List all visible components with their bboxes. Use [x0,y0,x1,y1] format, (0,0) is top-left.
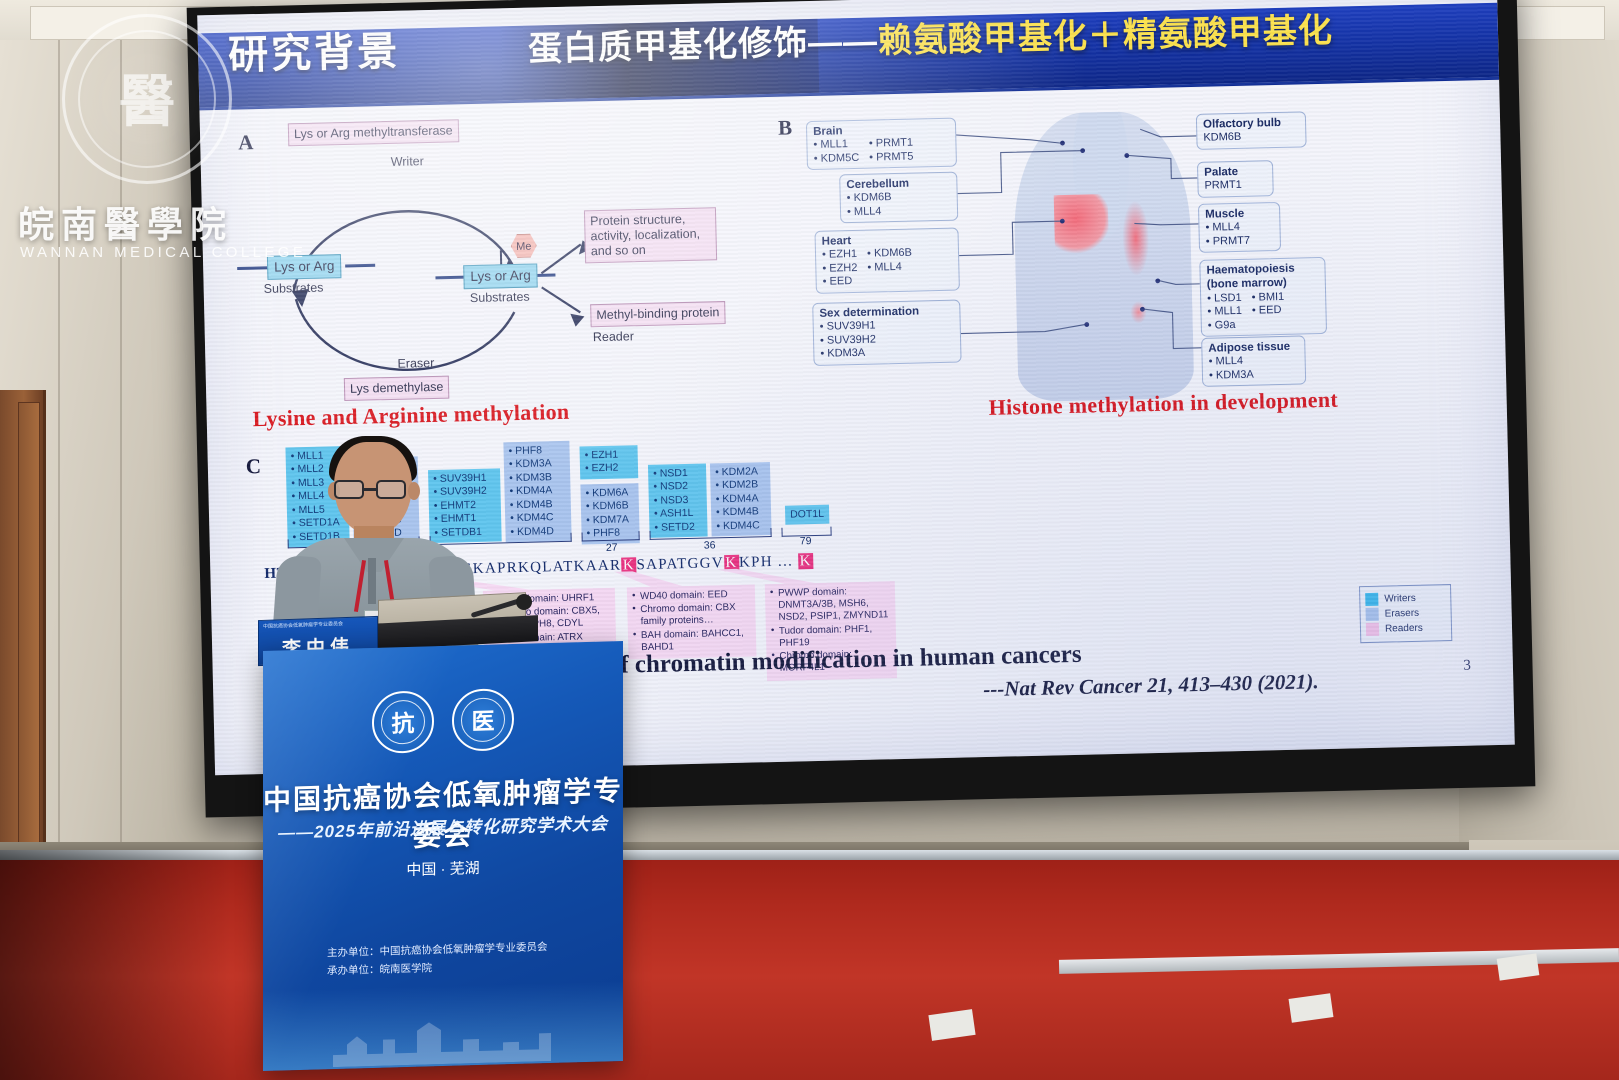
podium-seal-glyph-2: 医 [472,702,495,737]
panel-b-box-cerebellum: Cerebellum • KDM6B • MLL4 [839,172,958,224]
podium-banner: 抗 医 中国抗癌协会低氧肿瘤学专委会 ——2025年前沿进展与转化研究学术大会 … [263,641,623,1071]
seq-k79: K [798,553,814,569]
panel-a-output-methyl-binding: Methyl-binding protein [590,301,726,327]
panel-b: B [760,93,1487,410]
panel-a-eraser-label: Eraser [397,356,434,371]
legend-label-writers: Writers [1384,593,1416,605]
stage-front-edge [0,850,1619,860]
gene-group-kdm2-4: • KDM2A • KDM2B • KDM4A • KDM4B • KDM4C [710,462,772,537]
panel-b-box-olfactory-bulb: Olfactory bulb KDM6B [1196,111,1307,149]
seal-glyph: 醫 [119,57,175,138]
panel-b-box-heart: Heart • EZH1• EZH2• EED • KDM6B• MLL4 [814,228,959,294]
microphone-head-icon [516,594,532,610]
cancer-association-logo-icon: 抗 [372,690,434,754]
medical-college-logo-icon: 医 [452,688,514,752]
speaker-glasses-left [334,480,364,499]
nameplate-org-line: 中国抗癌协会低氧肿瘤学专业委员会 [263,620,343,630]
slide-title-accent: 赖氨酸甲基化＋精氨酸甲基化 [878,12,1334,61]
panel-b-box-muscle: Muscle • MLL4 • PRMT7 [1198,202,1281,253]
gene-group-ezh: • EZH1 • EZH2 [579,445,638,479]
panel-c-letter: C [246,454,262,479]
panel-a-reader-label: Reader [593,329,634,344]
bracket-k27 [582,531,640,541]
podium-cityscape-icon [333,1009,563,1067]
stage-shadow [0,850,230,1080]
panel-b-box-brain-title: Brain [813,125,843,138]
legend-label-erasers: Erasers [1385,608,1420,620]
panel-b-box-sex-determination: Sex determination • SUV39H1 • SUV39H2 • … [812,300,961,366]
panel-c-legend: Writers Erasers Readers [1359,584,1452,643]
podium-seal-glyph-1: 抗 [392,704,415,739]
legend-swatch-writers [1365,593,1378,606]
panel-b-box-adipose-tissue: Adipose tissue • MLL4 • KDM3A [1201,335,1306,387]
side-door-panel [18,402,40,850]
watermark-cn: 皖南醫學院 [18,196,233,248]
speaker-shirt-placket [368,558,376,604]
speaker-glasses-bridge [362,488,376,491]
panel-b-box-palate: Palate PRMT1 [1197,160,1274,198]
speaker-glasses-right [376,480,406,499]
position-27: 27 [606,542,618,554]
panel-a-node-right: Lys or Arg [463,263,538,289]
watermark-en: WANNAN MEDICAL COLLEGE [20,244,306,261]
gene-group-dot1l: DOT1L [785,505,829,525]
position-36: 36 [704,539,716,551]
college-seal-watermark-icon: 醫 [62,14,232,184]
podium-logos: 抗 医 [263,685,623,757]
seq-k27: K [621,557,637,573]
seq-k36: K [724,555,740,571]
gene-group-kdm3-4: • PHF8 • KDM3A • KDM3B • KDM4A • KDM4B •… [503,441,571,543]
panel-a-output-protein-structure: Protein structure, activity, localizatio… [584,207,717,263]
conference-room: 研究背景 蛋白质甲基化修饰——赖氨酸甲基化＋精氨酸甲基化 A Lys or Ar… [0,0,1619,1080]
panel-a-demethylase-label: Lys demethylase [344,376,450,401]
bracket-k36 [649,528,771,540]
panel-a-node-right-sub: Substrates [470,290,530,305]
panel-b-box-brain: Brain • MLL1• KDM5C • PRMT1• PRMT5 [806,118,957,171]
panel-b-box-haematopoiesis: Haematopoiesis (bone marrow) • LSD1• MLL… [1199,257,1327,337]
legend-swatch-erasers [1366,608,1379,621]
gene-group-nsd: • NSD1 • NSD2 • NSD3 • ASH1L • SETD2 [648,464,708,539]
legend-label-readers: Readers [1385,623,1423,635]
speaker-ear-right [408,482,420,500]
slide-section-kicker: 研究背景 [227,19,400,81]
position-79: 79 [800,535,812,547]
panel-a-node-left-sub: Substrates [264,281,324,296]
legend-swatch-readers [1366,623,1379,636]
panel-a: A Lys or Arg methyltransferase Writer Ly… [220,111,747,423]
slide-page-number: 3 [1463,658,1471,675]
slide-title-main: 蛋白质甲基化修饰—— [528,22,879,68]
podium-organizers: 主办单位：中国抗癌协会低氧肿瘤学专业委员会 承办单位：皖南医学院 [327,939,548,981]
